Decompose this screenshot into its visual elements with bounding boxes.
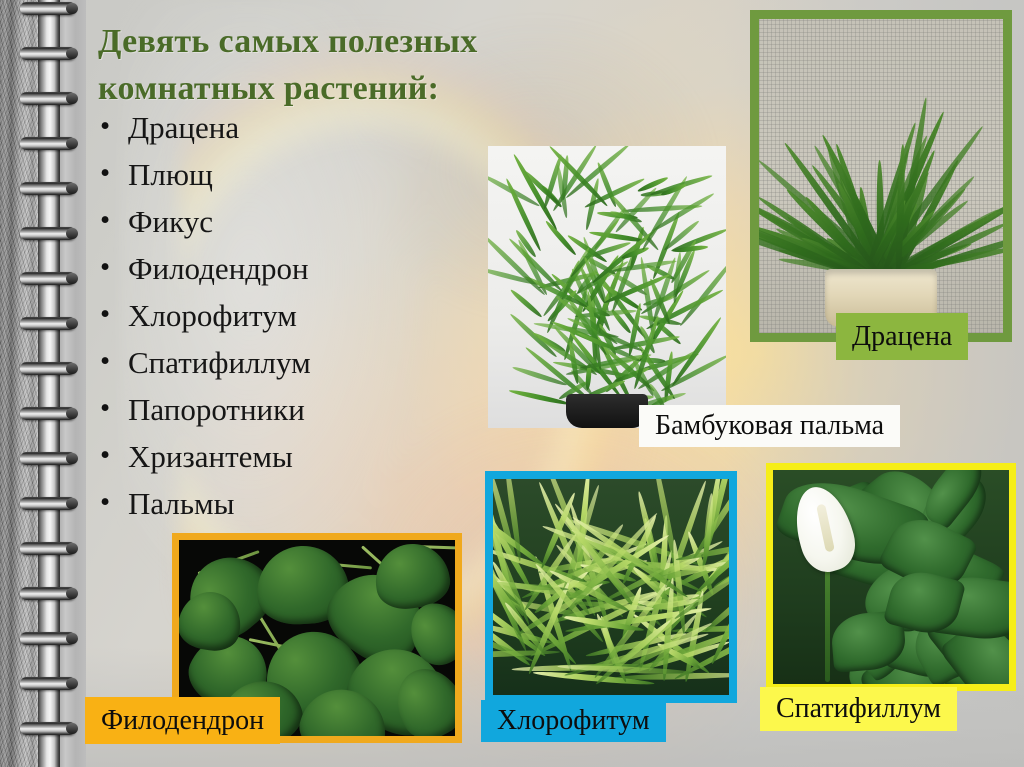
photo-bamboo-palm xyxy=(488,146,726,428)
bamboo-pot xyxy=(566,394,648,428)
binder-ring xyxy=(20,182,76,195)
binder-ring xyxy=(20,632,76,645)
binder-ring xyxy=(20,272,76,285)
list-item: Драцена xyxy=(98,104,518,151)
list-item: Хлорофитум xyxy=(98,292,518,339)
bamboo-frond xyxy=(510,288,544,319)
list-item: Спатифиллум xyxy=(98,339,518,386)
caption-dracaena: Драцена xyxy=(836,313,968,360)
list-item: Хризантемы xyxy=(98,433,518,480)
binder-ring xyxy=(20,587,76,600)
binder-ring xyxy=(20,407,76,420)
binder-ring xyxy=(20,677,76,690)
list-item: Филодендрон xyxy=(98,245,518,292)
list-item: Пальмы xyxy=(98,480,518,527)
photo-spathiphyllum xyxy=(766,463,1016,691)
plant-list: Драцена Плющ Фикус Филодендрон Хлорофиту… xyxy=(98,104,518,527)
caption-philodendron: Филодендрон xyxy=(85,697,280,744)
binder-spine xyxy=(38,0,60,767)
list-item: Плющ xyxy=(98,151,518,198)
caption-chlorophytum: Хлорофитум xyxy=(481,700,666,742)
binder-ring xyxy=(20,722,76,735)
binder-ring xyxy=(20,92,76,105)
list-item: Фикус xyxy=(98,198,518,245)
binder-ring xyxy=(20,497,76,510)
binder-ring xyxy=(20,47,76,60)
slide-canvas: Девять самых полезных комнатных растений… xyxy=(0,0,1024,767)
binder-ring xyxy=(20,2,76,15)
page-title: Девять самых полезных комнатных растений… xyxy=(98,18,568,112)
photo-chlorophytum xyxy=(485,471,737,703)
photo-dracaena xyxy=(750,10,1012,342)
binder-ring xyxy=(20,542,76,555)
binder-ring xyxy=(20,317,76,330)
binder-ring xyxy=(20,452,76,465)
spathiphyllum-stalk xyxy=(825,556,830,682)
binder-ring xyxy=(20,362,76,375)
bamboo-frond xyxy=(670,316,722,387)
caption-bamboo-palm: Бамбуковая пальма xyxy=(639,405,900,447)
binder-ring xyxy=(20,137,76,150)
list-item: Папоротники xyxy=(98,386,518,433)
title-line-1: Девять самых полезных xyxy=(98,18,568,65)
caption-spathiphyllum: Спатифиллум xyxy=(760,687,957,731)
spiral-binding xyxy=(0,0,86,767)
binder-ring xyxy=(20,227,76,240)
dracaena-scene xyxy=(759,19,1003,333)
